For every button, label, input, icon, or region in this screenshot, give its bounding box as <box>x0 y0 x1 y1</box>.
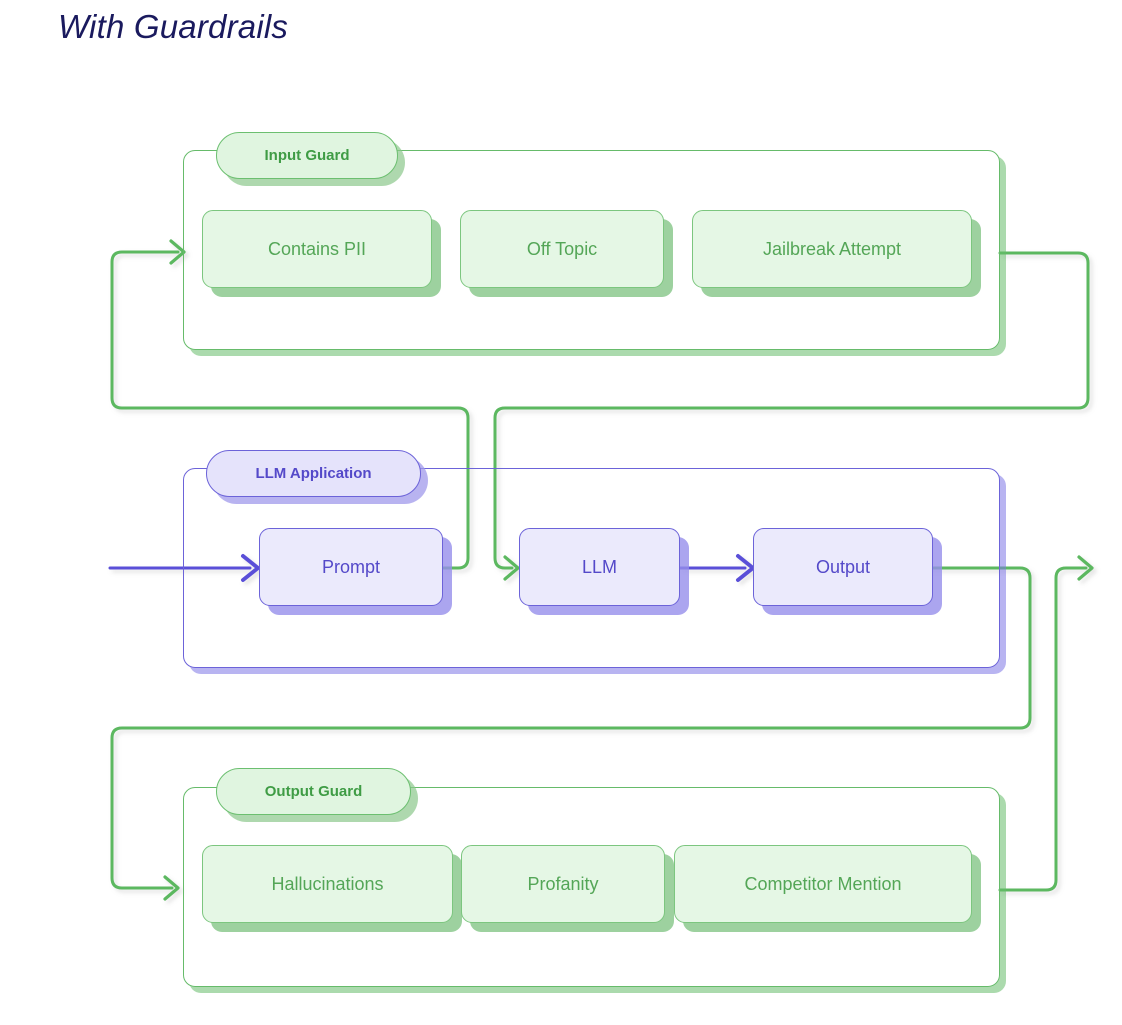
node-jailbreak-attempt[interactable]: Jailbreak Attempt <box>692 210 972 288</box>
group-label-llm-application: LLM Application <box>206 450 421 497</box>
node-output[interactable]: Output <box>753 528 933 606</box>
node-competitor-mention[interactable]: Competitor Mention <box>674 845 972 923</box>
group-label-llm-application-text: LLM Application <box>255 465 371 482</box>
edge-output-guard-to-response <box>1000 557 1092 890</box>
node-contains-pii-label: Contains PII <box>268 239 366 260</box>
group-label-output-guard-text: Output Guard <box>265 783 363 800</box>
node-off-topic-label: Off Topic <box>527 239 597 260</box>
node-competitor-mention-label: Competitor Mention <box>744 874 901 895</box>
group-label-output-guard: Output Guard <box>216 768 411 815</box>
group-label-input-guard: Input Guard <box>216 132 398 179</box>
node-profanity[interactable]: Profanity <box>461 845 665 923</box>
node-hallucinations-label: Hallucinations <box>271 874 383 895</box>
node-prompt[interactable]: Prompt <box>259 528 443 606</box>
node-profanity-label: Profanity <box>527 874 598 895</box>
node-llm-label: LLM <box>582 557 617 578</box>
node-llm[interactable]: LLM <box>519 528 680 606</box>
node-contains-pii[interactable]: Contains PII <box>202 210 432 288</box>
node-jailbreak-attempt-label: Jailbreak Attempt <box>763 239 901 260</box>
node-output-label: Output <box>816 557 870 578</box>
node-hallucinations[interactable]: Hallucinations <box>202 845 453 923</box>
node-prompt-label: Prompt <box>322 557 380 578</box>
node-off-topic[interactable]: Off Topic <box>460 210 664 288</box>
group-label-input-guard-text: Input Guard <box>265 147 350 164</box>
